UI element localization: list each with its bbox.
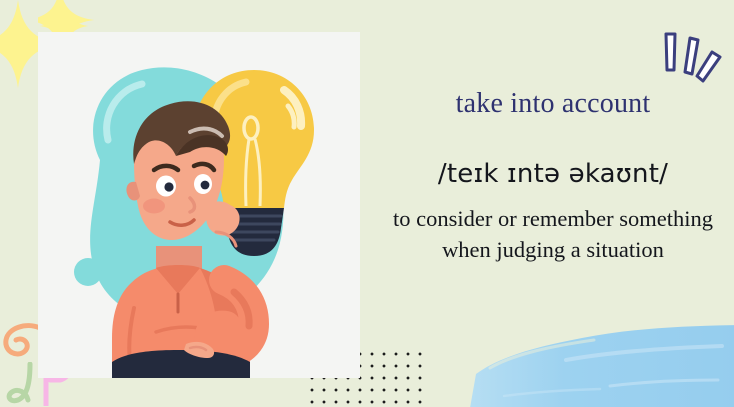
definition-text: to consider or remember something when j… — [384, 204, 722, 265]
text-column: take into account /teɪk ɪntə əkaʊnt/ to … — [384, 88, 722, 265]
illustration-card — [38, 32, 360, 378]
thinking-man-with-lightbulb-illustration — [38, 32, 360, 378]
phrase-title: take into account — [384, 88, 722, 120]
vocabulary-card: take into account /teɪk ɪntə əkaʊnt/ to … — [0, 0, 734, 407]
watercolor-brush-stroke — [470, 316, 734, 407]
ipa-pronunciation: /teɪk ɪntə əkaʊnt/ — [384, 160, 722, 190]
confetti-strokes-icon — [654, 28, 734, 92]
